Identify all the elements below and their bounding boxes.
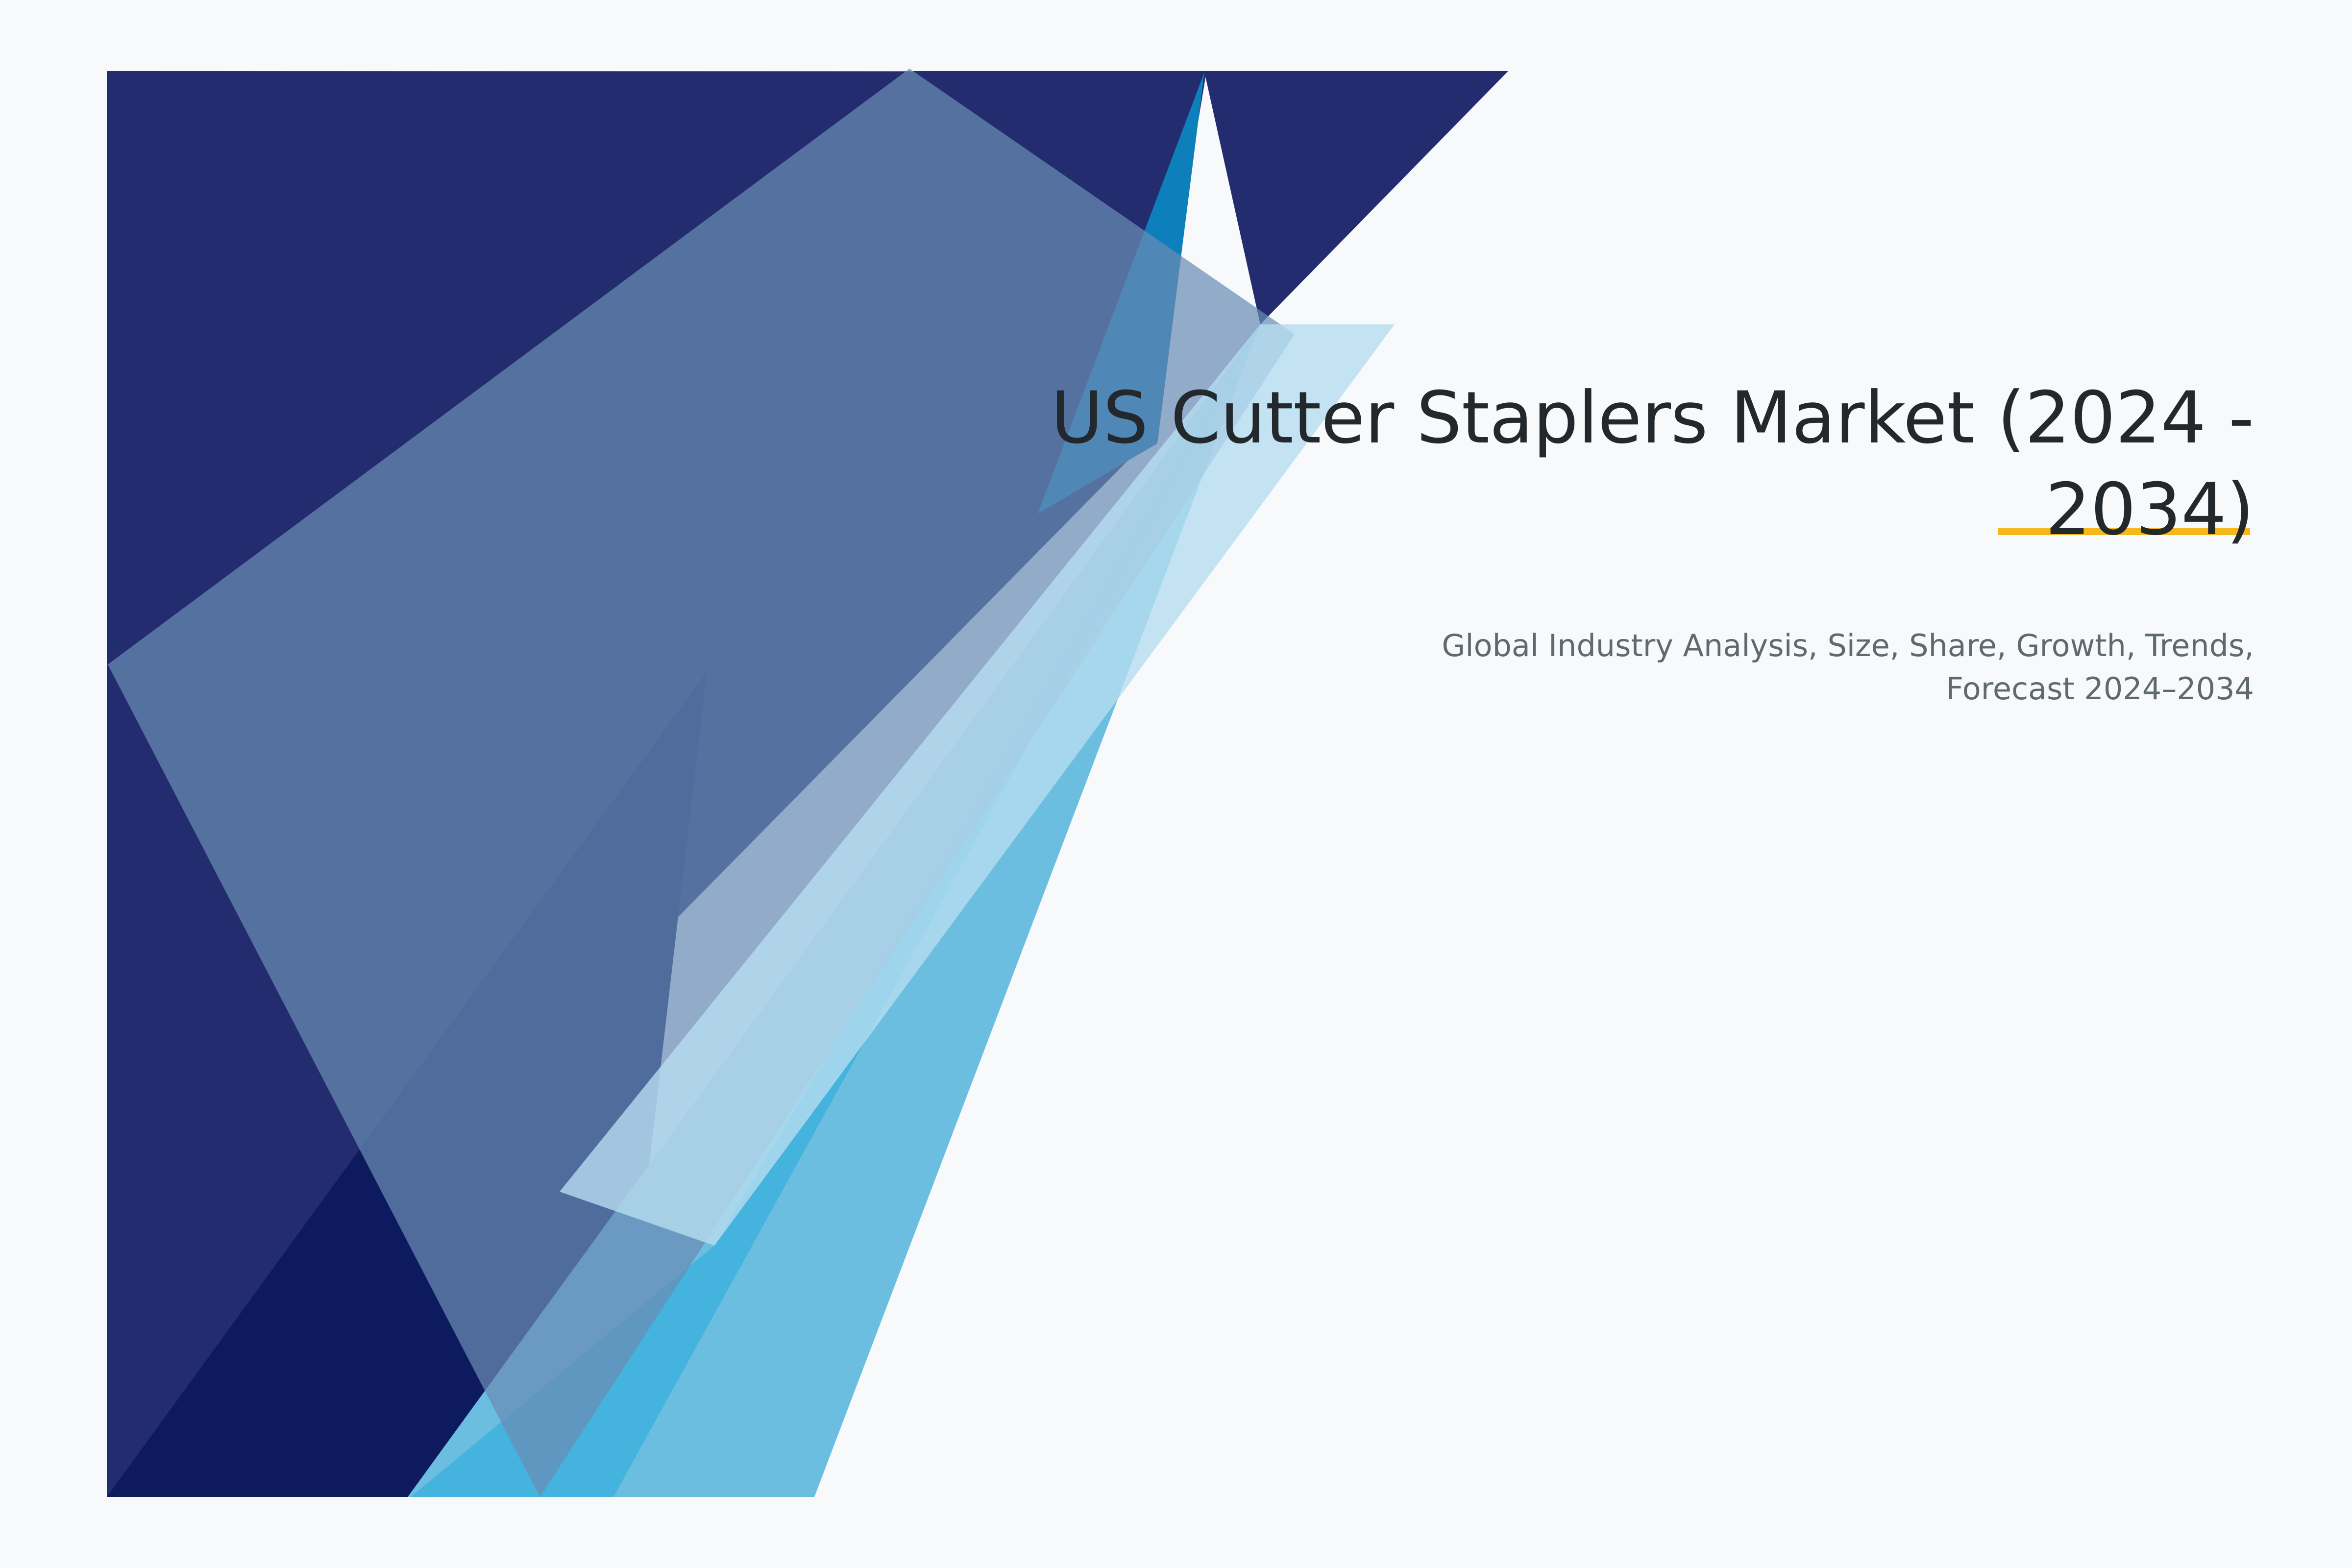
shape-cyan-field bbox=[107, 71, 912, 520]
abstract-polygon-graphic bbox=[0, 0, 2352, 1568]
shape-deep-navy-wedge bbox=[107, 672, 707, 1497]
page-subtitle: Global Industry Analysis, Size, Share, G… bbox=[970, 556, 2254, 710]
shape-slate-overlay bbox=[108, 69, 1295, 1497]
report-cover-slide: US Cutter Staplers Market (2024 - 2034) … bbox=[0, 0, 2352, 1568]
page-title: US Cutter Staplers Market (2024 - 2034) bbox=[970, 372, 2254, 556]
shape-navy-top-right bbox=[912, 71, 1508, 324]
title-wrapper: US Cutter Staplers Market (2024 - 2034) bbox=[970, 372, 2254, 556]
shape-navy-band bbox=[107, 71, 1206, 1497]
cover-text-block: US Cutter Staplers Market (2024 - 2034) … bbox=[970, 372, 2254, 710]
